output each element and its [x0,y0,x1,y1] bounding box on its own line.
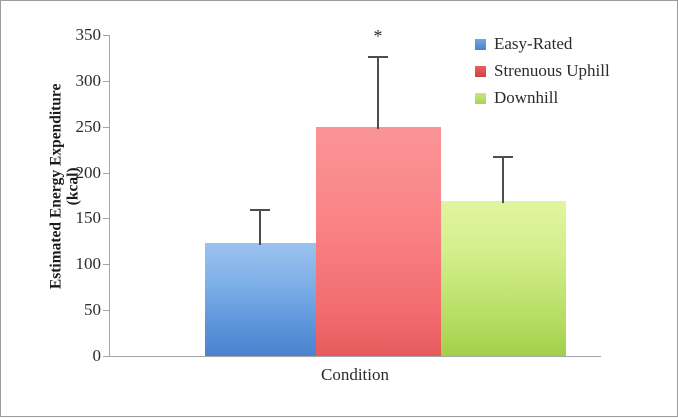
x-axis-title: Condition [109,365,601,385]
y-tick-0 [103,356,110,357]
legend-label-strenuous-uphill: Strenuous Uphill [494,61,610,81]
y-axis-line [109,35,110,357]
error-bar-downhill [493,156,513,203]
significance-asterisk: * [366,27,390,45]
y-axis-title-line1: Estimated Energy Expenditure [48,36,65,336]
legend-swatch-icon-easy-rated [475,39,486,50]
error-bar-easy-rated [250,209,270,245]
legend-label-downhill: Downhill [494,88,558,108]
error-stem-easy-rated [259,209,261,245]
bar-downhill [441,201,566,356]
error-bar-strenuous-uphill [368,56,388,129]
y-tick-100 [103,264,110,265]
chart-legend: Easy-Rated Strenuous Uphill Downhill [475,33,665,114]
error-stem-downhill [502,156,504,203]
legend-item-easy-rated: Easy-Rated [475,33,665,55]
bar-strenuous-uphill [316,127,441,356]
x-axis-line [109,356,601,357]
bar-easy-rated [205,243,316,356]
y-tick-300 [103,81,110,82]
legend-item-strenuous-uphill: Strenuous Uphill [475,60,665,82]
chart-frame: 350 300 250 200 150 100 50 0 Estimated E… [0,0,678,417]
legend-swatch-icon-strenuous-uphill [475,66,486,77]
y-axis-title-line2: (kcal) [65,36,82,336]
y-tick-label-0: 0 [57,346,101,366]
legend-label-easy-rated: Easy-Rated [494,34,572,54]
y-tick-150 [103,218,110,219]
y-tick-50 [103,310,110,311]
y-tick-200 [103,173,110,174]
y-tick-350 [103,35,110,36]
y-tick-250 [103,127,110,128]
legend-swatch-icon-downhill [475,93,486,104]
error-stem-strenuous-uphill [377,56,379,129]
legend-item-downhill: Downhill [475,87,665,109]
plot-area: 350 300 250 200 150 100 50 0 Estimated E… [1,1,678,418]
y-axis-title: Estimated Energy Expenditure (kcal) [48,36,83,336]
